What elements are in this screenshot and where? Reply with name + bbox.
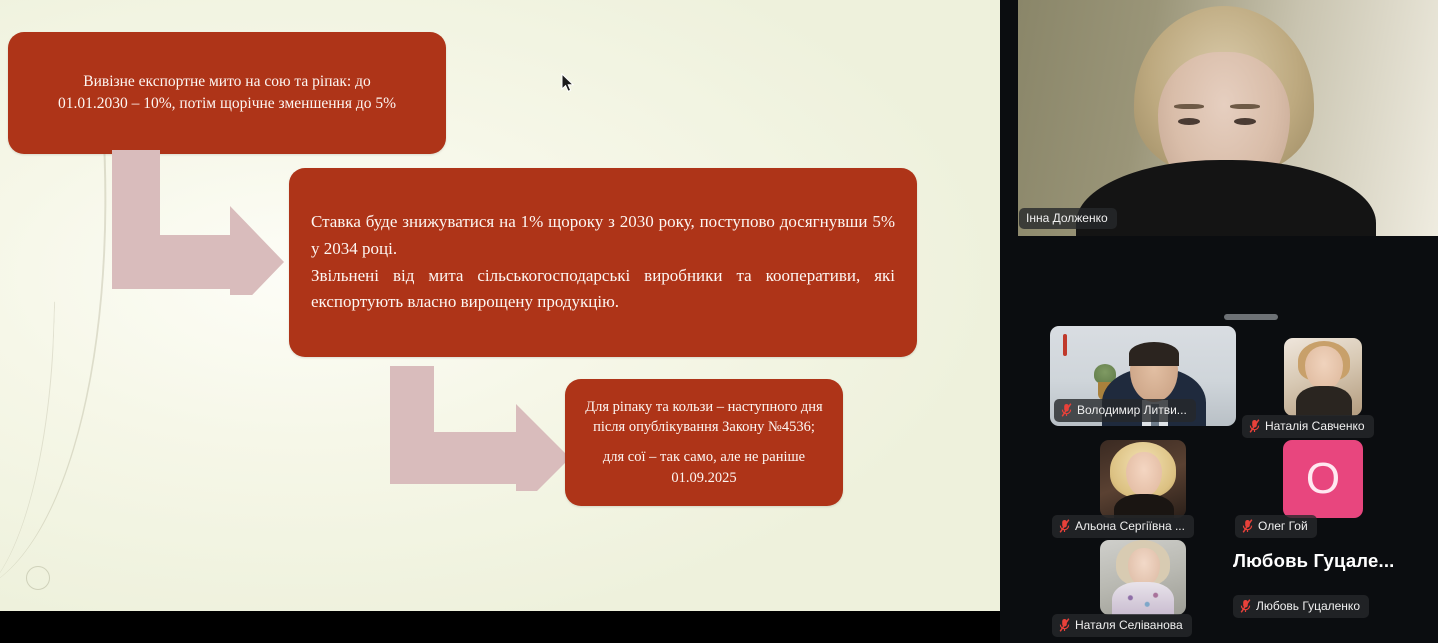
box2-paragraph-1: Ставка буде знижуватися на 1% щороку з 2… (311, 209, 895, 263)
box3-paragraph-2: для сої – так само, але не раніше 01.09.… (583, 447, 825, 488)
avatar-initial: О (1306, 457, 1340, 501)
presentation-slide[interactable]: Вивізне експортне мито на сою та ріпак: … (0, 0, 1000, 611)
participant-name: Олег Гой (1258, 520, 1308, 532)
participant-tile-volodymyr[interactable]: Володимир Литви... (1050, 326, 1236, 426)
participant-name: Альона Сергіївна ... (1075, 520, 1185, 532)
participant-name-chip: Наталя Селіванова (1052, 614, 1192, 637)
mouse-cursor (561, 73, 575, 93)
participant-head (1305, 346, 1343, 390)
wall-decor-red (1063, 334, 1067, 356)
participant-name-chip: Альона Сергіївна ... (1052, 515, 1194, 538)
active-speaker-name: Інна Долженко (1026, 212, 1108, 224)
wall-frame-2 (1050, 341, 1072, 358)
mic-muted-icon (1059, 519, 1070, 533)
participant-dress-pattern (1122, 590, 1164, 615)
participant-tile-oleh-hoi[interactable]: О Олег Гой (1283, 440, 1363, 518)
callout-box-export-duty: Вивізне експортне мито на сою та ріпак: … (8, 32, 446, 154)
screen-share-meeting-window: Вивізне експортне мито на сою та ріпак: … (0, 0, 1438, 643)
slide-watermark-logo (26, 566, 50, 590)
participant-name: Володимир Литви... (1077, 404, 1187, 416)
participant-head (1126, 452, 1162, 496)
participant-name-chip: Володимир Литви... (1054, 399, 1196, 422)
box3-paragraph-1: Для ріпаку та кользи – наступного дня пі… (583, 397, 825, 438)
mic-muted-icon (1240, 599, 1251, 613)
speaker-eye-left (1178, 118, 1200, 125)
participant-name: Наталя Селіванова (1075, 619, 1183, 631)
active-speaker-video[interactable] (1018, 0, 1438, 236)
participant-video-nataliia-savchenko (1284, 338, 1362, 416)
participant-avatar-oleh-hoi: О (1283, 440, 1363, 518)
participant-body (1296, 386, 1352, 416)
participant-name-chip: Наталія Савченко (1242, 415, 1374, 438)
callout-box-rate-reduction: Ставка буде знижуватися на 1% щороку з 2… (289, 168, 917, 357)
speaker-brow-left (1174, 104, 1204, 109)
participant-name: Любовь Гуцаленко (1256, 600, 1360, 612)
participant-tile-alona[interactable]: Альона Сергіївна ... (1100, 440, 1186, 518)
speaker-eye-right (1234, 118, 1256, 125)
participant-video-natalia-selivanova (1100, 540, 1186, 615)
participant-tile-natalia-selivanova[interactable]: Наталя Селіванова (1100, 540, 1186, 615)
participant-tile-nataliia-savchenko[interactable]: Наталія Савченко (1284, 338, 1362, 416)
participant-hair (1129, 342, 1179, 366)
decorative-swoosh-line-secondary (0, 299, 55, 602)
participant-tile-liubov-hutsalenko[interactable]: Любовь Гуцале... Любовь Гуцаленко (1233, 540, 1433, 618)
bent-arrow-box2-to-box3 (390, 366, 570, 491)
shared-screen-region[interactable]: Вивізне експортне мито на сою та ріпак: … (0, 0, 1000, 643)
wall-frame-1 (1050, 326, 1070, 341)
mic-muted-icon (1059, 618, 1070, 632)
participant-head (1128, 548, 1160, 586)
box1-line2: 01.01.2030 – 10%, потім щорічне зменшенн… (26, 93, 428, 115)
box1-line1: Вивізне експортне мито на сою та ріпак: … (26, 71, 428, 93)
mic-muted-icon (1249, 419, 1260, 433)
callout-box-effective-dates: Для ріпаку та кользи – наступного дня пі… (565, 379, 843, 506)
box2-paragraph-2: Звільнені від мита сільськогосподарські … (311, 263, 895, 317)
bent-arrow-box1-to-box2 (112, 150, 284, 295)
mic-muted-icon (1061, 403, 1072, 417)
thumbnail-strip-drag-handle[interactable] (1224, 314, 1278, 320)
participant-name: Наталія Савченко (1265, 420, 1365, 432)
participant-name-chip: Олег Гой (1235, 515, 1317, 538)
active-speaker-name-chip: Інна Долженко (1019, 208, 1117, 229)
participant-name-chip: Любовь Гуцаленко (1233, 595, 1369, 618)
speaker-brow-right (1230, 104, 1260, 109)
speaker-shoulders (1076, 160, 1376, 236)
participant-display-name: Любовь Гуцале... (1233, 550, 1433, 572)
mic-muted-icon (1242, 519, 1253, 533)
participant-video-alona (1100, 440, 1186, 518)
